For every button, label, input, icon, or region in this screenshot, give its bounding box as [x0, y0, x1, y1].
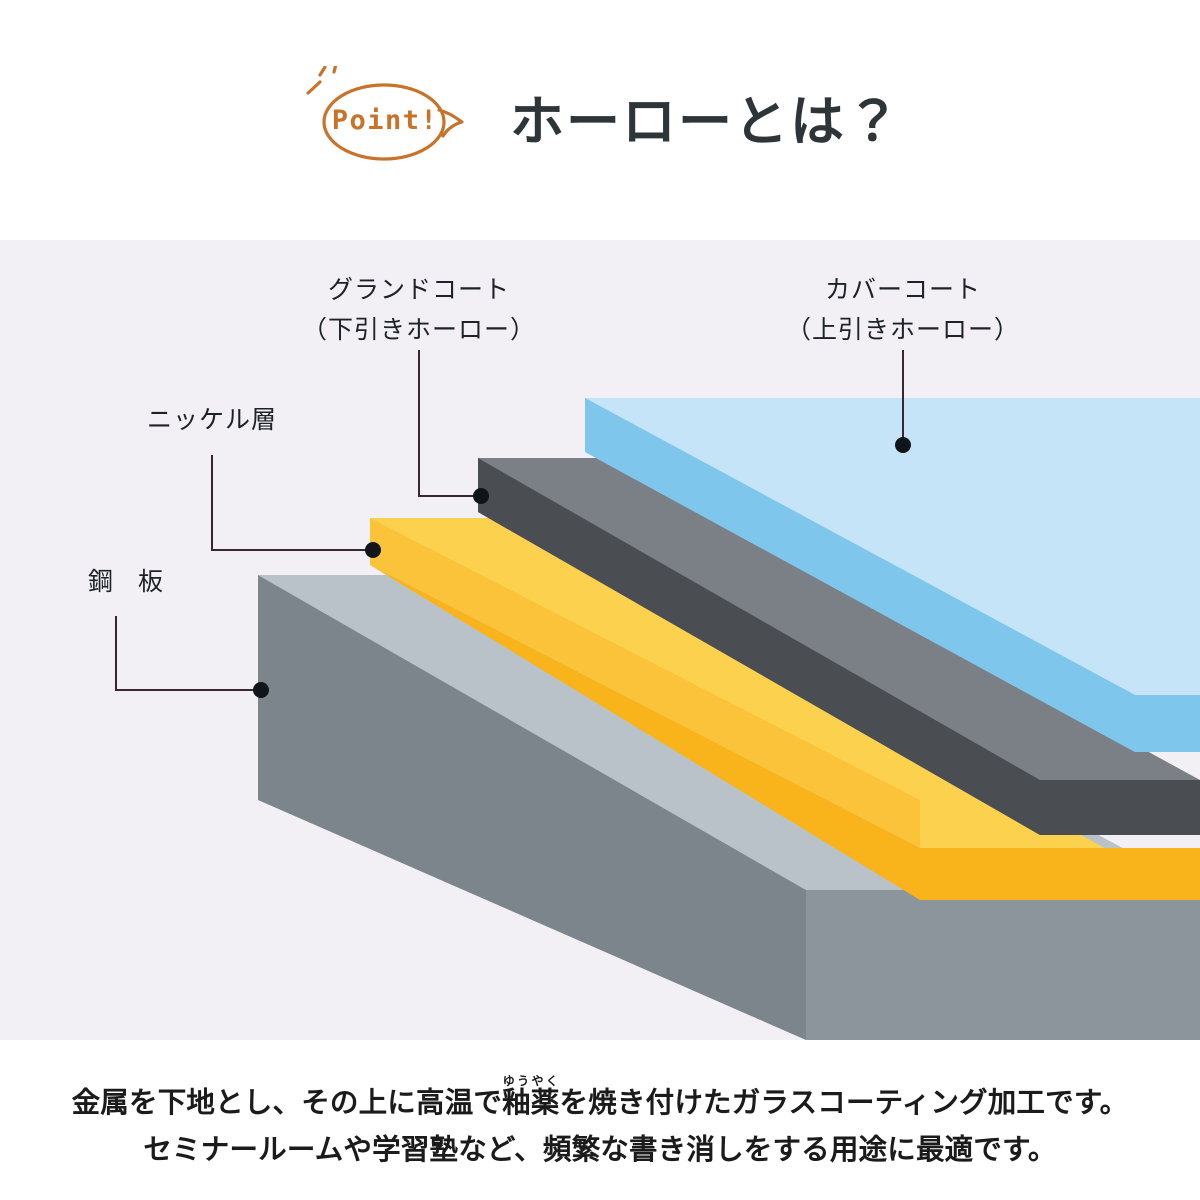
caption-line-1-part-b: を焼き付けたガラスコーティング加工です。	[560, 1087, 1129, 1119]
enamel-layer-diagram: グランドコート （下引きホーロー） カバーコート （上引きホーロー） ニッケル層…	[0, 240, 1200, 1040]
steel-plate-front-face	[806, 890, 1200, 1040]
diagram-panel: グランドコート （下引きホーロー） カバーコート （上引きホーロー） ニッケル層…	[0, 240, 1200, 1040]
leader-steel-plate	[116, 616, 257, 690]
page-root: Point! ホーローとは？	[0, 0, 1200, 1200]
caption-block: 金属を下地とし、その上に高温で釉薬ゆうやくを焼き付けたガラスコーティング加工です…	[0, 1040, 1200, 1200]
dot-steel-plate	[253, 682, 269, 698]
label-nickel-layer: ニッケル層	[147, 406, 277, 434]
caption-line-1-part-a: 金属を下地とし、その上に高温で	[72, 1087, 503, 1119]
leader-ground-coat	[419, 350, 477, 496]
caption-line-1: 金属を下地とし、その上に高温で釉薬ゆうやくを焼き付けたガラスコーティング加工です…	[72, 1074, 1129, 1120]
caption-ruby-glaze: 釉薬ゆうやく	[502, 1087, 559, 1119]
page-header: Point! ホーローとは？	[0, 0, 1200, 240]
caption-ruby-base: 釉薬	[502, 1087, 559, 1119]
label-ground-coat-line2: （下引きホーロー）	[302, 316, 536, 344]
cover-coat-front-face	[1135, 695, 1200, 752]
caption-ruby-text: ゆうやく	[502, 1074, 559, 1088]
dot-ground-coat	[473, 488, 489, 504]
caption-line-2: セミナールームや学習塾など、頻繁な書き消しをする用途に最適です。	[143, 1134, 1056, 1167]
label-ground-coat-line1: グランドコート	[328, 276, 510, 304]
leader-nickel	[212, 455, 369, 550]
label-cover-coat-line1: カバーコート	[825, 276, 981, 304]
page-title: ホーローとは？	[510, 95, 902, 149]
point-badge-label: Point!	[298, 66, 468, 174]
dot-cover-coat	[895, 437, 911, 453]
point-badge: Point!	[298, 66, 484, 174]
dot-nickel	[365, 542, 381, 558]
ground-coat-front-face	[1040, 780, 1200, 835]
label-steel-plate: 鋼 板	[88, 568, 172, 596]
label-cover-coat-line2: （上引きホーロー）	[786, 316, 1020, 344]
